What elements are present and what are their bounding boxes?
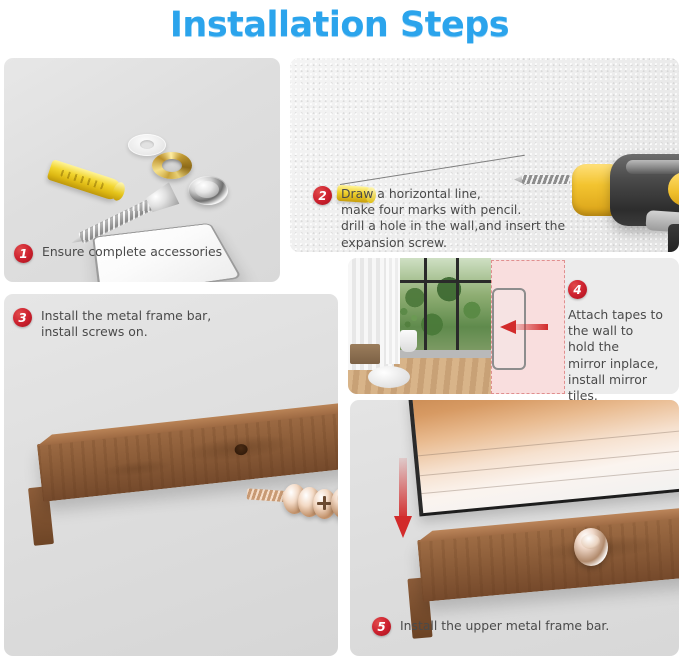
window-mullion [456, 258, 459, 352]
step-3-panel [4, 294, 338, 656]
installation-steps-infographic: Installation Steps [0, 0, 679, 660]
mirror-reflection-line [418, 428, 679, 456]
anchor-ribs [60, 169, 104, 189]
step-4-caption: 4 Attach tapes to the wall to hold the m… [568, 280, 679, 404]
window-transom [392, 280, 491, 283]
arrow-shaft [399, 458, 407, 520]
wooden-frame-bar [417, 513, 679, 602]
page-title: Installation Steps [0, 0, 679, 50]
screw-assembly [247, 474, 338, 526]
plant-pot [400, 330, 417, 352]
step-1-caption: 1 Ensure complete accessories [14, 244, 222, 263]
step-caption-text: Draw a horizontal line, make four marks … [341, 186, 565, 251]
step-caption-text: Ensure complete accessories [42, 244, 222, 260]
arrow-head [500, 320, 516, 334]
step-5-caption: 5 Install the upper metal frame bar. [372, 617, 609, 636]
chrome-dome-cap-icon [188, 176, 228, 205]
room-interior-photo [348, 258, 491, 394]
step-number-badge: 4 [568, 280, 587, 299]
step-caption-text: Install the metal frame bar, install scr… [41, 308, 211, 340]
arrow-head [394, 516, 412, 538]
step-caption-text: Attach tapes to the wall to hold the mir… [568, 307, 679, 404]
gold-ring-icon [152, 152, 192, 179]
drill-trigger [668, 224, 679, 252]
step-number-badge: 5 [372, 617, 391, 636]
step-number-badge: 1 [14, 244, 33, 263]
arrow-shaft [512, 324, 548, 330]
step-number-badge: 3 [13, 308, 32, 327]
drill-body-highlight [626, 160, 679, 174]
drill-bit-spiral [522, 175, 570, 184]
window-mullion [424, 258, 427, 352]
phillips-cross-icon [317, 496, 331, 510]
plastic-washer-icon [128, 134, 166, 156]
step-3-caption: 3 Install the metal frame bar, install s… [13, 308, 211, 340]
mirror-panel [408, 400, 679, 516]
mirror-reflection-line [421, 466, 679, 494]
step-caption-text: Install the upper metal frame bar. [400, 618, 609, 634]
power-drill-icon [572, 128, 679, 252]
red-down-arrow-icon [394, 458, 412, 542]
chrome-dome-cap-icon [574, 528, 608, 566]
yellow-wall-anchor-icon [47, 159, 124, 202]
floor-pouf [368, 366, 410, 388]
step-number-badge: 2 [313, 186, 332, 205]
planter-box [350, 344, 380, 364]
step-2-caption: 2 Draw a horizontal line, make four mark… [313, 186, 565, 251]
red-left-arrow-icon [500, 320, 548, 334]
